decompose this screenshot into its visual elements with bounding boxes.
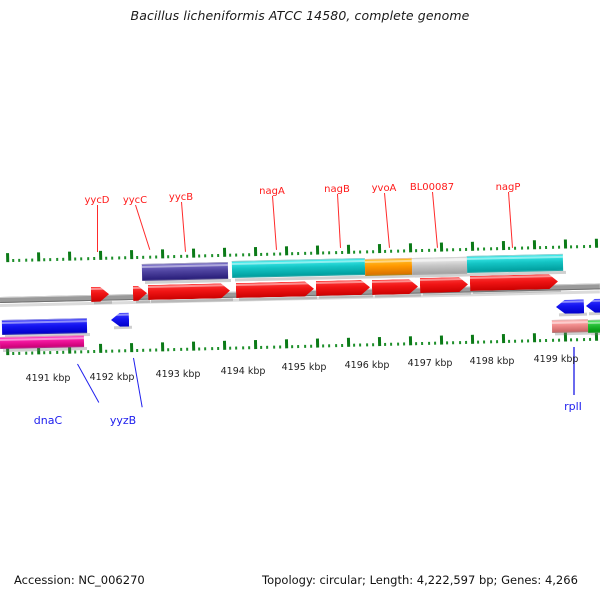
feature-highlight <box>91 288 109 290</box>
scale-tick-major <box>254 340 257 349</box>
ruler-tick-label: 4195 kbp <box>282 362 327 373</box>
scale-tick-minor <box>359 250 361 253</box>
scale-tick-major <box>378 337 381 346</box>
scale-tick-major <box>502 334 505 343</box>
scale-tick-minor <box>576 338 578 341</box>
scale-tick-minor <box>397 343 399 346</box>
scale-tick-minor <box>527 339 529 342</box>
scale-tick-minor <box>490 340 492 343</box>
scale-tick-major <box>99 251 102 260</box>
scale-tick-minor <box>211 347 213 350</box>
scale-tick-minor <box>74 257 76 260</box>
scale-tick-minor <box>50 351 52 354</box>
feature-highlight <box>111 314 129 316</box>
scale-tick-minor <box>25 352 27 355</box>
scale-tick-major <box>533 240 536 249</box>
scale-tick-major <box>409 243 412 252</box>
scale-tick-major <box>130 343 133 352</box>
gene-feature-nagP-block[interactable] <box>467 254 563 273</box>
scale-tick-minor <box>446 248 448 251</box>
gene-feature-dnaC-rna[interactable] <box>0 335 84 349</box>
scale-tick-minor <box>62 351 64 354</box>
gene-leader-line-yycC <box>135 205 150 250</box>
scale-tick-major <box>130 250 133 259</box>
reverse-leader-line-dnaC <box>77 364 99 403</box>
scale-tick-minor <box>576 245 578 248</box>
scale-tick-minor <box>304 345 306 348</box>
scale-tick-major <box>378 244 381 253</box>
scale-tick-minor <box>279 252 281 255</box>
scale-tick-minor <box>291 252 293 255</box>
gene-leader-line-yycD <box>97 205 98 252</box>
scale-tick-minor <box>545 339 547 342</box>
scale-tick-minor <box>558 246 560 249</box>
reverse-leader-line-yyzB <box>133 358 143 407</box>
scale-tick-minor <box>390 250 392 253</box>
scale-tick-minor <box>260 346 262 349</box>
ruler-tick-label: 4192 kbp <box>90 372 135 383</box>
scale-tick-minor <box>583 338 585 341</box>
ruler-tick-label: 4199 kbp <box>534 354 579 365</box>
tick-row-lower <box>0 327 600 356</box>
gene-feature-yyzB-cds[interactable] <box>111 313 129 327</box>
scale-tick-minor <box>266 253 268 256</box>
scale-tick-minor <box>112 257 114 260</box>
scale-tick-minor <box>570 245 572 248</box>
scale-tick-minor <box>12 259 14 262</box>
scale-tick-minor <box>19 352 21 355</box>
scale-tick-minor <box>273 346 275 349</box>
scale-tick-minor <box>514 340 516 343</box>
scale-tick-minor <box>341 344 343 347</box>
gene-feature-rplI-blk2[interactable] <box>588 320 600 333</box>
feature-highlight <box>556 300 584 303</box>
scale-tick-minor <box>112 350 114 353</box>
scale-tick-minor <box>266 346 268 349</box>
ruler-tick-label: 4197 kbp <box>408 358 453 369</box>
gene-feature-rplI-blk1[interactable] <box>552 319 588 333</box>
scale-tick-minor <box>167 255 169 258</box>
scale-tick-minor <box>279 345 281 348</box>
scale-tick-minor <box>136 349 138 352</box>
gene-feature-BL87-cds[interactable] <box>420 277 468 293</box>
scale-tick-minor <box>539 246 541 249</box>
scale-tick-minor <box>372 250 374 253</box>
genome-stats-text: Topology: circular; Length: 4,222,597 bp… <box>262 573 578 587</box>
scale-tick-major <box>285 246 288 255</box>
scale-tick-minor <box>558 339 560 342</box>
scale-tick-minor <box>514 247 516 250</box>
scale-tick-minor <box>322 251 324 254</box>
ruler-tick-label: 4193 kbp <box>156 369 201 380</box>
scale-tick-minor <box>335 251 337 254</box>
gene-feature-yvoA-block[interactable] <box>365 258 412 276</box>
scale-tick-major <box>99 344 102 353</box>
scale-tick-minor <box>31 352 33 355</box>
scale-tick-minor <box>50 258 52 261</box>
scale-tick-minor <box>415 342 417 345</box>
feature-highlight <box>2 320 87 324</box>
scale-tick-minor <box>118 256 120 259</box>
scale-tick-minor <box>43 258 45 261</box>
ruler-tick-label: 4194 kbp <box>221 366 266 377</box>
scale-tick-minor <box>527 246 529 249</box>
scale-tick-minor <box>452 248 454 251</box>
reverse-gene-label-dnaC[interactable]: dnaC <box>34 414 62 427</box>
scale-tick-major <box>347 245 350 254</box>
scale-tick-minor <box>310 345 312 348</box>
scale-tick-minor <box>155 348 157 351</box>
scale-tick-minor <box>335 344 337 347</box>
scale-tick-minor <box>62 258 64 261</box>
scale-tick-minor <box>545 246 547 249</box>
scale-tick-major <box>409 336 412 345</box>
gene-feature-yycB-cds[interactable] <box>148 283 230 300</box>
feature-highlight <box>467 256 563 260</box>
scale-tick-minor <box>521 247 523 250</box>
scale-tick-minor <box>384 343 386 346</box>
scale-tick-minor <box>452 341 454 344</box>
scale-tick-major <box>37 252 40 261</box>
scale-tick-minor <box>25 259 27 262</box>
scale-tick-minor <box>217 347 219 350</box>
feature-highlight <box>420 278 468 281</box>
ruler-tick-label: 4191 kbp <box>26 373 71 384</box>
scale-tick-minor <box>186 255 188 258</box>
scale-tick-minor <box>508 340 510 343</box>
scale-tick-minor <box>415 249 417 252</box>
scale-tick-minor <box>589 338 591 341</box>
gene-feature-rplI-cds1[interactable] <box>556 299 584 314</box>
feature-highlight <box>412 259 467 262</box>
feature-highlight <box>586 299 600 302</box>
scale-tick-minor <box>143 256 145 259</box>
scale-tick-minor <box>56 258 58 261</box>
scale-tick-minor <box>459 341 461 344</box>
scale-tick-minor <box>397 250 399 253</box>
scale-tick-major <box>316 246 319 255</box>
scale-tick-minor <box>483 247 485 250</box>
scale-tick-minor <box>229 254 231 257</box>
scale-tick-minor <box>149 349 151 352</box>
scale-tick-minor <box>434 342 436 345</box>
gene-feature-nagA-block[interactable] <box>232 258 365 278</box>
scale-tick-minor <box>174 255 176 258</box>
scale-tick-major <box>254 247 257 256</box>
gene-feature-yycB-block[interactable] <box>142 262 228 281</box>
scale-tick-minor <box>328 251 330 254</box>
scale-tick-minor <box>297 345 299 348</box>
scale-tick-minor <box>539 339 541 342</box>
scale-tick-minor <box>366 250 368 253</box>
scale-tick-major <box>161 342 164 351</box>
scale-tick-minor <box>124 349 126 352</box>
gene-feature-BL00087-blk[interactable] <box>412 257 467 275</box>
scale-tick-minor <box>81 257 83 260</box>
scale-tick-minor <box>322 344 324 347</box>
page-title: Bacillus licheniformis ATCC 14580, compl… <box>0 8 600 23</box>
scale-tick-minor <box>260 253 262 256</box>
scale-tick-minor <box>242 253 244 256</box>
ruler-tick-label: 4198 kbp <box>470 356 515 367</box>
scale-tick-minor <box>291 345 293 348</box>
scale-tick-minor <box>31 259 33 262</box>
scale-tick-minor <box>19 259 21 262</box>
scale-tick-major <box>192 342 195 351</box>
scale-tick-minor <box>236 254 238 257</box>
scale-tick-minor <box>359 343 361 346</box>
scale-tick-minor <box>403 342 405 345</box>
scale-tick-major <box>223 248 226 257</box>
scale-tick-minor <box>205 254 207 257</box>
scale-tick-minor <box>477 248 479 251</box>
scale-tick-minor <box>570 338 572 341</box>
scale-tick-minor <box>583 245 585 248</box>
scale-tick-minor <box>143 349 145 352</box>
scale-tick-minor <box>421 342 423 345</box>
scale-tick-major <box>347 338 350 347</box>
scale-tick-minor <box>521 340 523 343</box>
scale-tick-major <box>502 241 505 250</box>
scale-tick-major <box>471 242 474 251</box>
scale-tick-minor <box>428 342 430 345</box>
scale-tick-minor <box>384 250 386 253</box>
scale-tick-major <box>223 341 226 350</box>
gene-feature-nagA-cds[interactable] <box>236 281 314 298</box>
accession-text: Accession: NC_006270 <box>14 573 145 587</box>
scale-tick-minor <box>155 255 157 258</box>
reverse-gene-label-rplI[interactable]: rplI <box>564 400 582 413</box>
scale-tick-minor <box>186 348 188 351</box>
scale-tick-minor <box>242 346 244 349</box>
scale-tick-minor <box>310 252 312 255</box>
scale-tick-minor <box>483 340 485 343</box>
scale-tick-minor <box>198 254 200 257</box>
feature-highlight <box>316 281 370 284</box>
scale-tick-major <box>440 243 443 252</box>
scale-tick-major <box>285 339 288 348</box>
scale-tick-minor <box>490 247 492 250</box>
scale-tick-minor <box>496 247 498 250</box>
scale-tick-minor <box>205 347 207 350</box>
scale-tick-minor <box>477 341 479 344</box>
feature-highlight <box>0 337 84 341</box>
scale-tick-major <box>471 335 474 344</box>
feature-highlight <box>588 322 600 324</box>
scale-tick-minor <box>81 350 83 353</box>
scale-tick-minor <box>353 344 355 347</box>
feature-highlight <box>148 284 230 288</box>
scale-tick-minor <box>353 251 355 254</box>
scale-tick-major <box>192 249 195 258</box>
gene-feature-nagP-cds[interactable] <box>470 274 558 291</box>
scale-tick-minor <box>248 346 250 349</box>
scale-tick-minor <box>459 248 461 251</box>
scale-tick-minor <box>304 252 306 255</box>
scale-tick-minor <box>56 351 58 354</box>
scale-tick-major <box>595 239 598 248</box>
scale-tick-minor <box>105 257 107 260</box>
feature-highlight <box>552 321 588 324</box>
scale-tick-minor <box>167 348 169 351</box>
scale-tick-minor <box>118 349 120 352</box>
ruler-tick-label: 4196 kbp <box>345 360 390 371</box>
scale-tick-minor <box>372 343 374 346</box>
scale-tick-major <box>564 239 567 248</box>
scale-tick-minor <box>390 343 392 346</box>
scale-tick-minor <box>508 247 510 250</box>
scale-tick-minor <box>180 255 182 258</box>
scale-tick-minor <box>366 343 368 346</box>
scale-tick-minor <box>248 253 250 256</box>
scale-tick-minor <box>465 341 467 344</box>
scale-tick-minor <box>93 257 95 260</box>
scale-tick-major <box>161 249 164 258</box>
scale-tick-minor <box>124 256 126 259</box>
scale-tick-minor <box>434 249 436 252</box>
reverse-gene-label-yyzB[interactable]: yyzB <box>110 414 136 427</box>
scale-tick-major <box>316 339 319 348</box>
feature-highlight <box>372 280 418 283</box>
scale-tick-minor <box>198 347 200 350</box>
scale-tick-minor <box>211 254 213 257</box>
scale-tick-minor <box>552 339 554 342</box>
scale-tick-minor <box>74 350 76 353</box>
scale-tick-minor <box>105 350 107 353</box>
scale-tick-minor <box>174 348 176 351</box>
feature-highlight <box>236 282 314 286</box>
gene-feature-dnaC-cds[interactable] <box>2 318 87 335</box>
scale-tick-minor <box>43 351 45 354</box>
scale-tick-minor <box>589 245 591 248</box>
scale-tick-minor <box>149 256 151 259</box>
gene-feature-rplI-cds2[interactable] <box>586 298 600 313</box>
scale-tick-minor <box>496 340 498 343</box>
scale-tick-minor <box>93 350 95 353</box>
scale-tick-minor <box>465 248 467 251</box>
scale-tick-minor <box>236 347 238 350</box>
scale-tick-minor <box>341 251 343 254</box>
scale-tick-minor <box>12 352 14 355</box>
feature-highlight <box>232 260 365 265</box>
scale-tick-major <box>6 253 9 262</box>
scale-tick-minor <box>87 350 89 353</box>
scale-tick-minor <box>229 347 231 350</box>
genome-viewer: Bacillus licheniformis ATCC 14580, compl… <box>0 0 600 600</box>
feature-highlight <box>142 264 228 268</box>
scale-tick-minor <box>87 257 89 260</box>
scale-tick-minor <box>403 249 405 252</box>
feature-highlight <box>133 287 147 289</box>
scale-tick-major <box>440 336 443 345</box>
scale-tick-major <box>533 333 536 342</box>
scale-tick-minor <box>328 344 330 347</box>
scale-tick-minor <box>421 249 423 252</box>
gene-feature-nagB-cds[interactable] <box>316 280 370 296</box>
scale-tick-minor <box>217 254 219 257</box>
scale-tick-minor <box>297 252 299 255</box>
scale-tick-major <box>68 252 71 261</box>
scale-tick-minor <box>180 348 182 351</box>
scale-tick-minor <box>446 341 448 344</box>
feature-highlight <box>365 260 412 263</box>
scale-tick-minor <box>273 253 275 256</box>
scale-tick-minor <box>136 256 138 259</box>
scale-tick-minor <box>428 249 430 252</box>
scale-tick-minor <box>552 246 554 249</box>
